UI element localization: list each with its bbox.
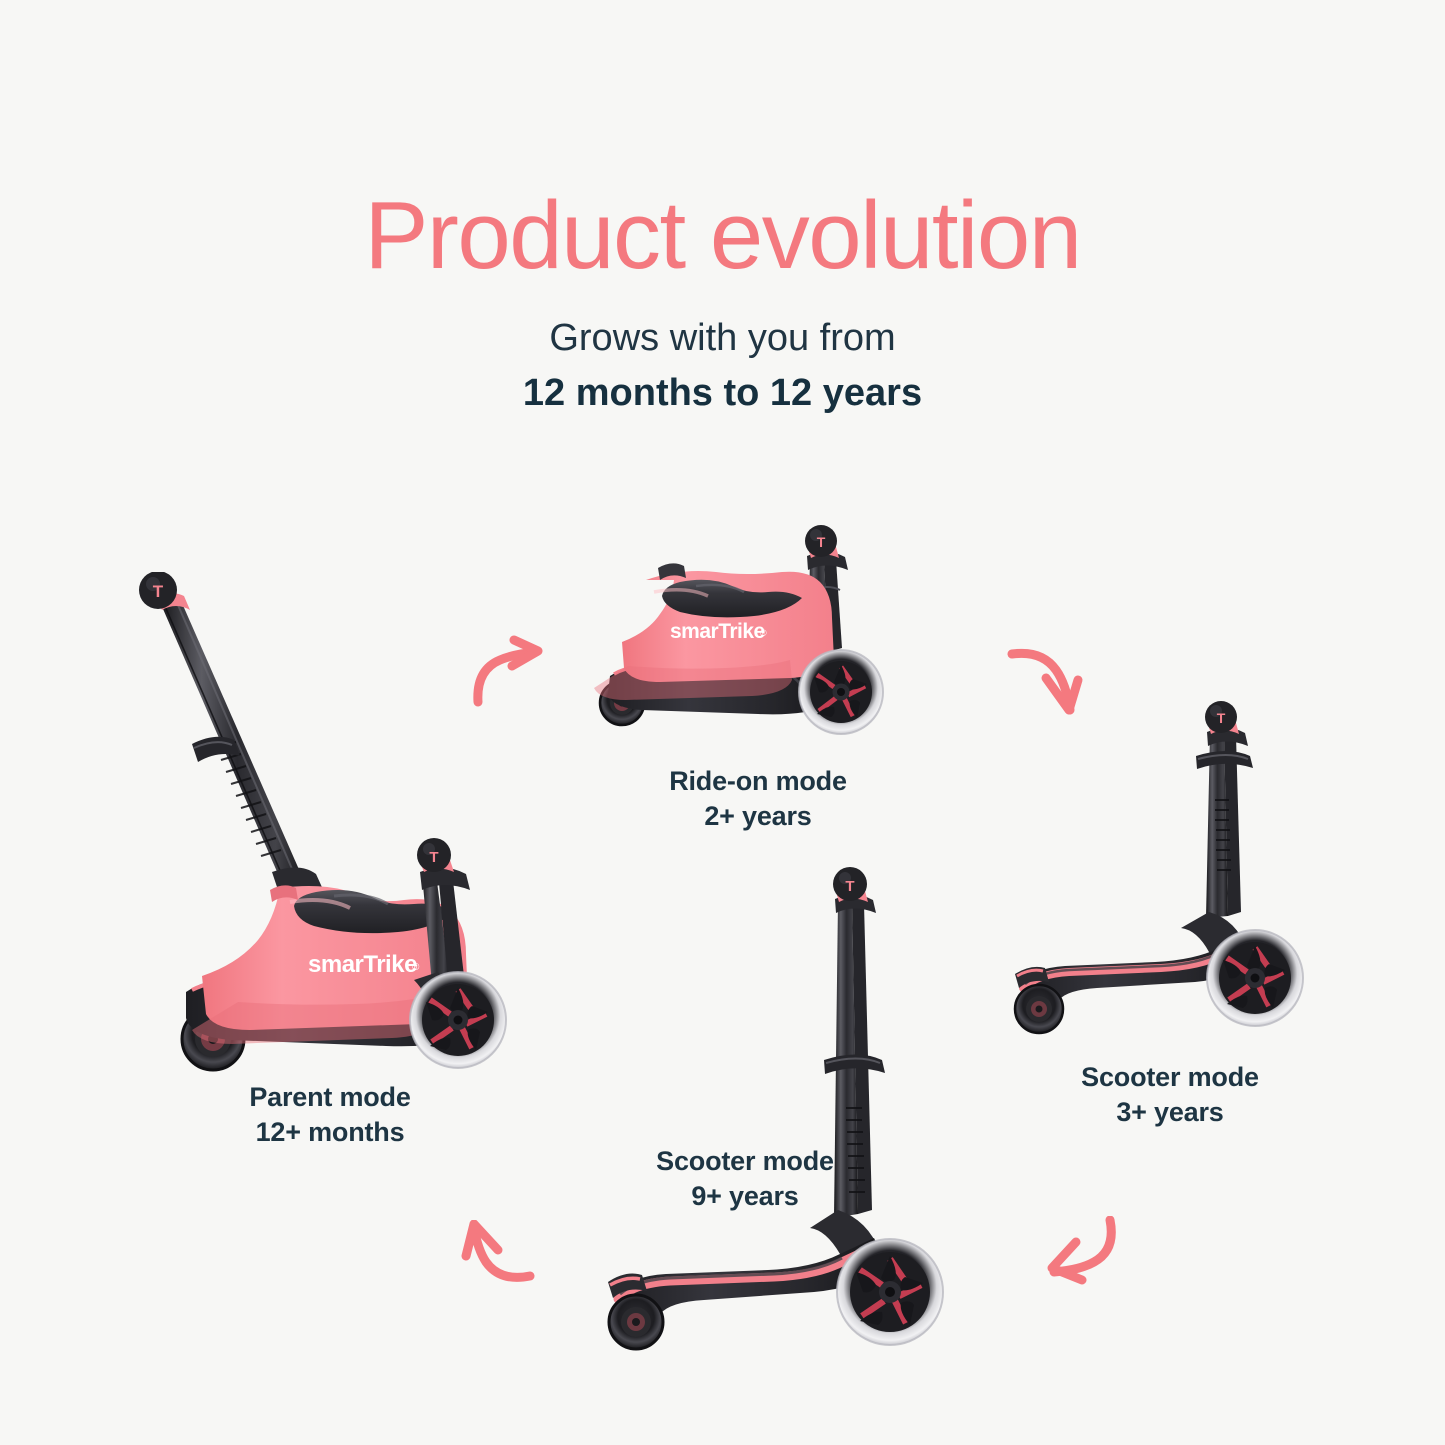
stage-scooter-mode-9-age: 9+ years bbox=[640, 1179, 850, 1214]
stage-scooter-mode-3-age: 3+ years bbox=[1005, 1095, 1335, 1130]
stage-scooter-mode-3[interactable]: T bbox=[1005, 698, 1335, 1130]
scooter-mode-3-illustration: T bbox=[1005, 698, 1325, 1048]
svg-text:T: T bbox=[429, 849, 438, 866]
brand-registered-rideon: ® bbox=[760, 628, 767, 638]
subtitle-line-2: 12 months to 12 years bbox=[0, 368, 1445, 419]
stage-ride-on-mode-age: 2+ years bbox=[588, 799, 928, 834]
stage-ride-on-mode-label: Ride-on mode 2+ years bbox=[588, 764, 928, 834]
scooter9-front-wheel bbox=[837, 1239, 943, 1345]
header: Product evolution Grows with you from 12… bbox=[0, 0, 1445, 419]
parent-rear-wheel bbox=[410, 972, 506, 1068]
stage-scooter-mode-9-name: Scooter mode bbox=[656, 1146, 834, 1176]
stage-scooter-mode-9-label: Scooter mode 9+ years bbox=[640, 1144, 850, 1214]
page-title: Product evolution bbox=[0, 186, 1445, 287]
arrow-rideon-to-scooter3-icon bbox=[1006, 640, 1084, 720]
brand-wordmark-parent: smarTrike bbox=[308, 951, 417, 978]
scooter-mode-9-illustration: T bbox=[600, 862, 980, 1402]
ride-on-mode-illustration: T bbox=[588, 520, 920, 742]
knob-letter-scooter3: T bbox=[1217, 710, 1226, 726]
stage-parent-mode-name: Parent mode bbox=[249, 1082, 410, 1112]
brand-registered-parent: ® bbox=[412, 962, 420, 973]
stage-scooter-mode-3-label: Scooter mode 3+ years bbox=[1005, 1060, 1335, 1130]
stage-ride-on-mode-name: Ride-on mode bbox=[669, 766, 847, 796]
parent-handle-pole bbox=[160, 594, 326, 898]
stage-scooter-mode-3-name: Scooter mode bbox=[1081, 1062, 1259, 1092]
knob-letter-rideon: T bbox=[817, 534, 826, 550]
rideon-rear-wheel bbox=[799, 650, 883, 734]
parent-mode-illustration: T bbox=[120, 572, 520, 1072]
scooter3-front-wheel bbox=[1207, 930, 1303, 1026]
scooter3-rear-wheel bbox=[1015, 985, 1063, 1033]
brand-wordmark-rideon: smarTrike bbox=[670, 620, 765, 643]
stage-parent-mode-age: 12+ months bbox=[120, 1115, 540, 1150]
t-knob-parent: T bbox=[139, 572, 190, 610]
knob-letter-scooter9: T bbox=[845, 878, 854, 895]
stage-parent-mode-label: Parent mode 12+ months bbox=[120, 1080, 540, 1150]
infographic-canvas: Product evolution Grows with you from 12… bbox=[0, 0, 1445, 1445]
scooter9-rear-wheel bbox=[609, 1295, 663, 1349]
knob-letter-parent: T bbox=[153, 582, 164, 601]
arrow-scooter3-to-scooter9-icon bbox=[1038, 1216, 1118, 1294]
arrow-scooter9-to-parent-icon bbox=[458, 1220, 540, 1298]
stage-scooter-mode-9[interactable]: T bbox=[600, 862, 980, 1402]
stage-ride-on-mode[interactable]: T bbox=[588, 520, 928, 834]
subtitle-line-1: Grows with you from bbox=[0, 313, 1445, 364]
scooter3-stem: T bbox=[1196, 701, 1253, 918]
arrow-parent-to-rideon-icon bbox=[468, 630, 548, 708]
